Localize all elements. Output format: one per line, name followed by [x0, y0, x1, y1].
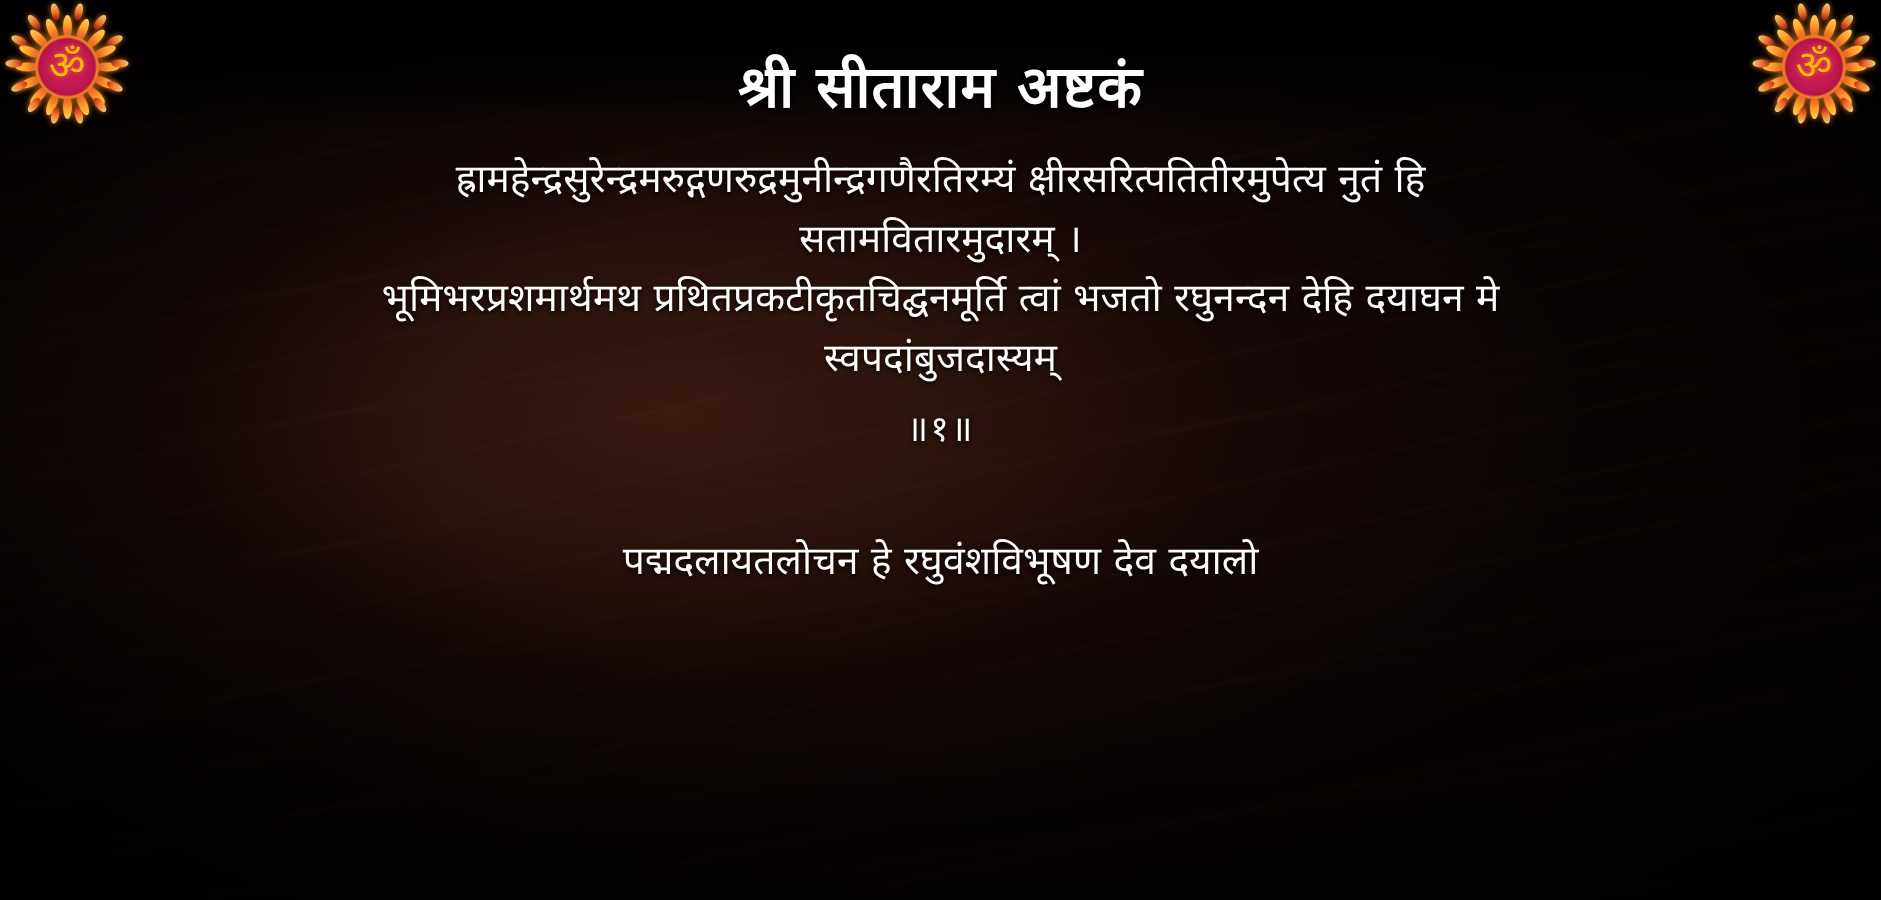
verse-body: ह्रामहेन्द्रसुरेन्द्रमरुद्गणरुद्रमुनीन्द… [0, 150, 1881, 900]
verse-number: ॥१॥ [96, 401, 1785, 459]
verse-line: ह्रामहेन्द्रसुरेन्द्रमरुद्गणरुद्रमुनीन्द… [96, 150, 1785, 210]
verse-block: ह्रामहेन्द्रसुरेन्द्रमरुद्गणरुद्रमुनीन्द… [96, 150, 1785, 458]
verse-line: पद्मदलायतलोचन हे रघुवंशविभूषण देव दयालो [96, 532, 1785, 592]
verse-line: स्वपदांबुजदास्यम् [96, 329, 1785, 389]
page-title: श्री सीताराम अष्टकं [0, 53, 1881, 121]
verse-block: पद्मदलायतलोचन हे रघुवंशविभूषण देव दयालो [96, 532, 1785, 592]
verse-display-screen: ॐ ॐ श्री सीताराम अष्टकं ह्रामहेन्द्रसुरे… [0, 0, 1881, 900]
verse-line: सतामवितारमुदारम् । [96, 210, 1785, 270]
verse-line: भूमिभरप्रशमार्थमथ प्रथितप्रकटीकृतचिद्घनम… [96, 269, 1785, 329]
